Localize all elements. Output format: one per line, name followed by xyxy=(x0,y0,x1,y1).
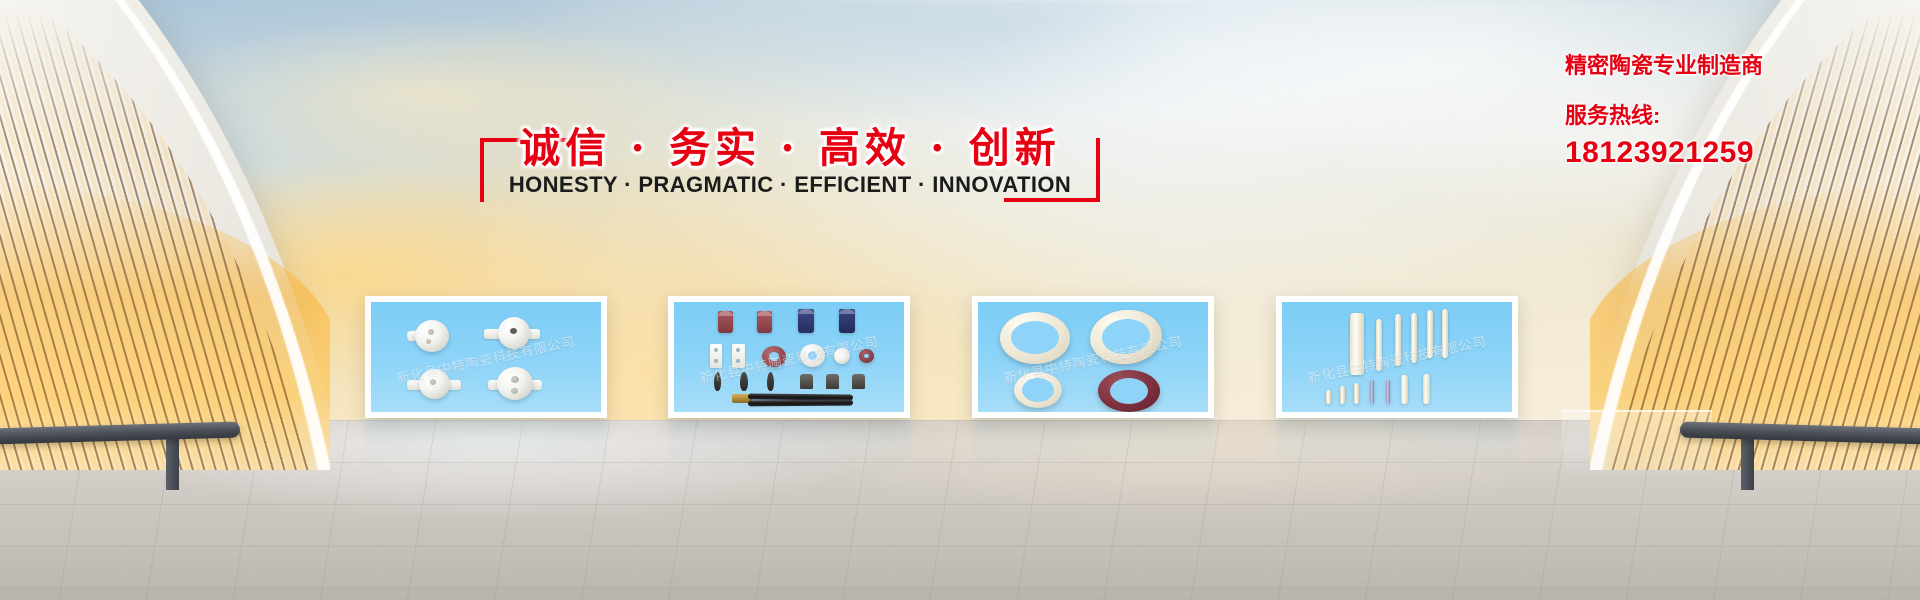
ceramic-pin xyxy=(1354,383,1359,404)
ceramic-ring-red xyxy=(1098,370,1160,412)
metal-clip xyxy=(852,374,865,389)
ceramic-rod xyxy=(1395,314,1401,366)
ceramic-ring-small xyxy=(1014,372,1062,408)
hotline-label: 服务热线: xyxy=(1565,100,1905,132)
product-panel-4[interactable]: 新化县中特陶瓷科技有限公司 xyxy=(1276,296,1518,418)
ceramic-ring-small xyxy=(859,349,874,363)
ceramic-ring-red xyxy=(762,346,786,367)
metal-clip xyxy=(826,374,839,389)
metal-clip xyxy=(800,374,813,389)
canopy-left xyxy=(0,0,330,470)
lamp-holder xyxy=(498,317,530,349)
metal-blade xyxy=(714,372,721,391)
ceramic-rod xyxy=(1376,319,1382,371)
glass-railing-right xyxy=(1562,410,1712,474)
product-panel-2-image: 新化县中特陶瓷科技有限公司 xyxy=(674,302,904,412)
ceramic-cap xyxy=(834,348,850,364)
railing-post-left xyxy=(166,438,179,490)
contact-title: 精密陶瓷专业制造商 xyxy=(1565,50,1905,82)
product-panel-1[interactable]: 新化县中特陶瓷科技有限公司 xyxy=(365,296,607,418)
metal-blade xyxy=(767,372,774,391)
product-panel-1-image: 新化县中特陶瓷科技有限公司 xyxy=(371,302,601,412)
ceramic-chip xyxy=(710,344,722,368)
ceramic-chip xyxy=(732,344,745,368)
ceramic-pin xyxy=(1401,375,1408,404)
ceramic-rod xyxy=(1411,313,1417,363)
ceramic-pin xyxy=(1340,386,1345,404)
product-panel-3[interactable]: 新化县中特陶瓷科技有限公司 xyxy=(972,296,1214,418)
promo-banner: 诚信 · 务实 · 高效 · 创新 HONESTY · PRAGMATIC · … xyxy=(0,0,1920,600)
lamp-holder xyxy=(419,369,450,399)
ceramic-rod xyxy=(1350,313,1364,375)
contact-block: 精密陶瓷专业制造商 服务热线: 18123921259 xyxy=(1565,50,1905,172)
canopy-edge-left xyxy=(0,0,330,470)
ceramic-rod xyxy=(1442,309,1448,358)
slogan-chinese: 诚信 · 务实 · 高效 · 创新 xyxy=(480,114,1100,174)
lamp-holder xyxy=(415,320,449,352)
product-panel-3-image: 新化县中特陶瓷科技有限公司 xyxy=(978,302,1208,412)
ceramic-tube xyxy=(757,311,772,333)
ceramic-pin xyxy=(1423,374,1430,404)
lamp-holder xyxy=(497,367,533,400)
ceramic-rod xyxy=(1427,310,1433,358)
ceramic-tube xyxy=(798,309,814,333)
slogan-block: 诚信 · 务实 · 高效 · 创新 HONESTY · PRAGMATIC · … xyxy=(480,110,1100,215)
slogan-english: HONESTY · PRAGMATIC · EFFICIENT · INNOVA… xyxy=(480,172,1100,198)
product-panel-2[interactable]: 新化县中特陶瓷科技有限公司 xyxy=(668,296,910,418)
ceramic-pin xyxy=(1326,390,1331,404)
ceramic-tube xyxy=(839,309,855,333)
phone-number[interactable]: 18123921259 xyxy=(1565,134,1905,172)
ceramic-ring-white xyxy=(800,344,825,367)
product-panel-4-image: 新化县中特陶瓷科技有限公司 xyxy=(1282,302,1512,412)
ceramic-ring-large xyxy=(1000,312,1070,364)
ceramic-ring-large xyxy=(1087,306,1164,367)
wire-lead xyxy=(748,400,853,407)
ceramic-tube xyxy=(718,311,733,333)
railing-post-right xyxy=(1741,438,1754,490)
metal-blade xyxy=(740,372,748,391)
ceramic-pin-blue xyxy=(1386,380,1390,404)
ceramic-pin-blue xyxy=(1370,380,1374,404)
